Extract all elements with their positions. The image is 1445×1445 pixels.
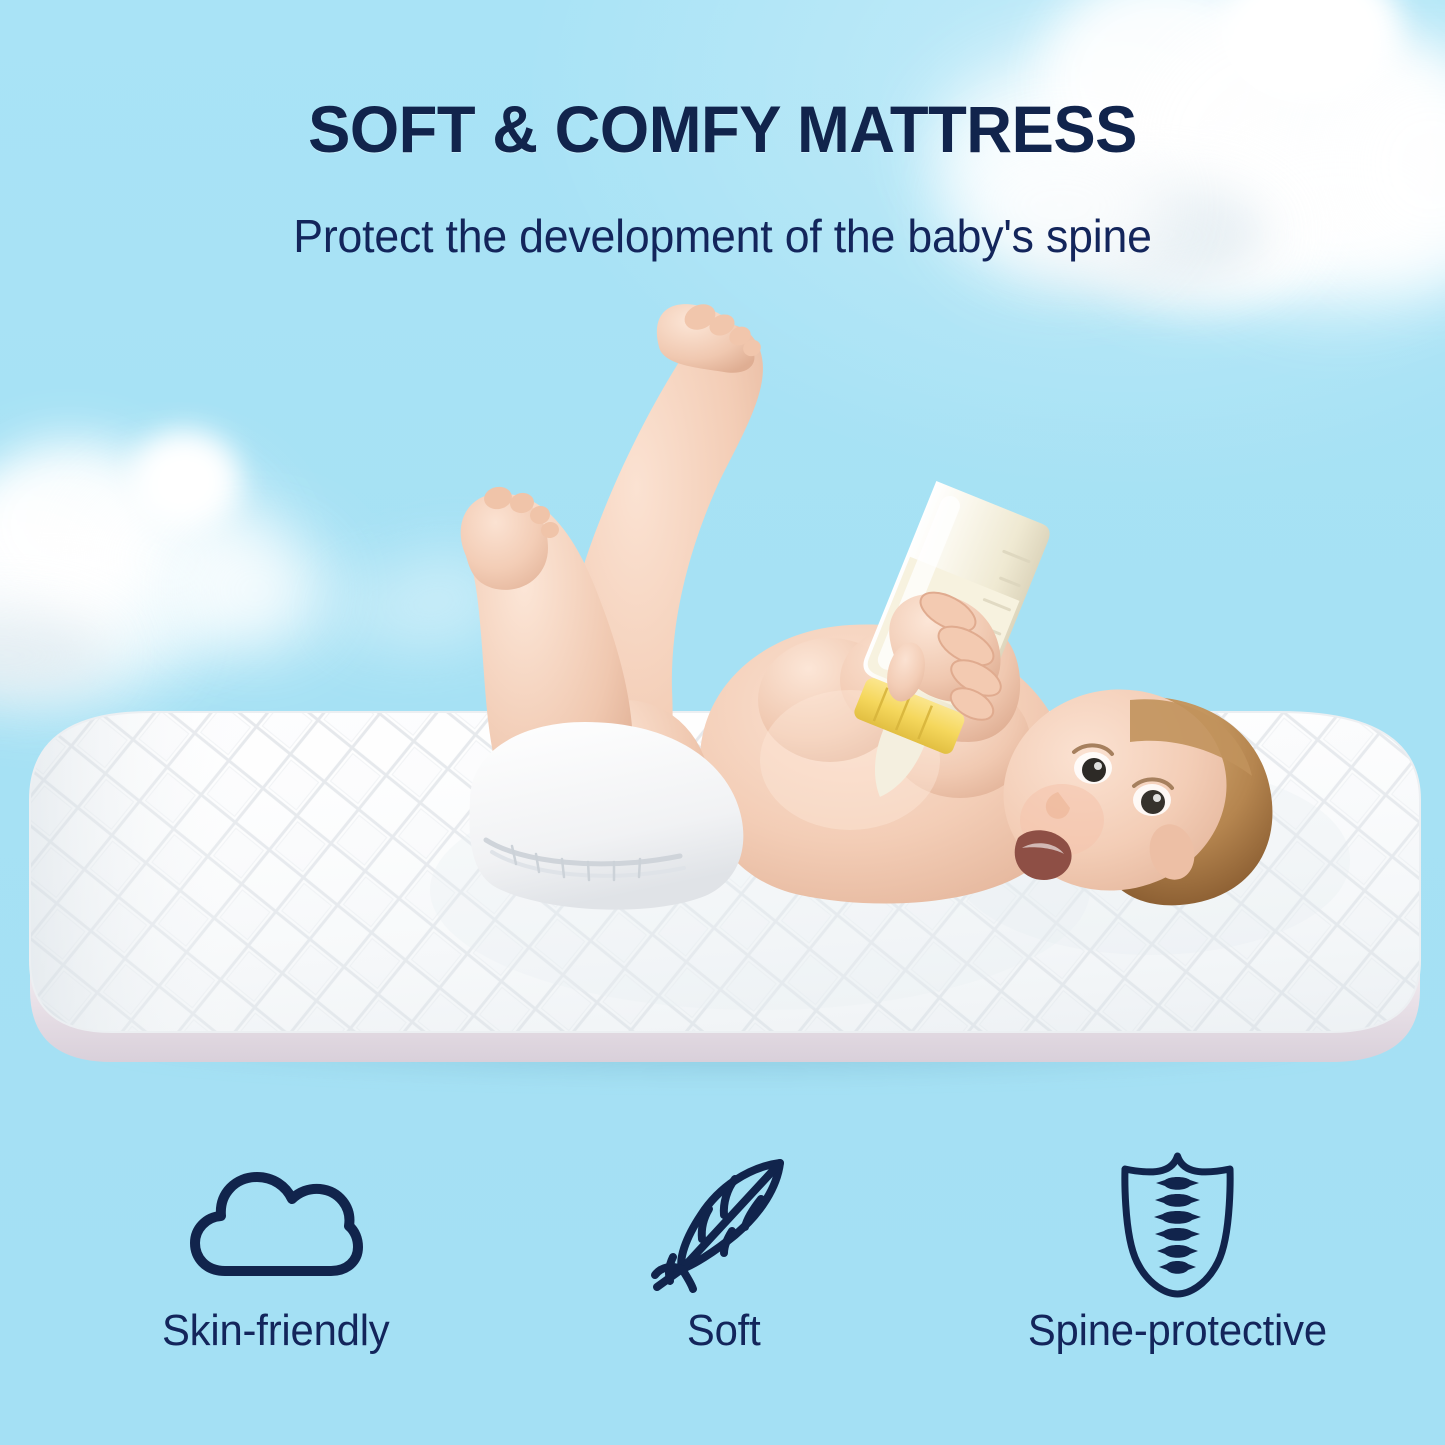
spine-shield-icon xyxy=(1115,1150,1240,1300)
feature-soft-label: Soft xyxy=(687,1306,761,1356)
cloud-icon xyxy=(189,1169,364,1281)
feature-spine-protective: Spine-protective xyxy=(1007,1150,1347,1400)
product-feature-image: SOFT & COMFY MATTRESS Protect the develo… xyxy=(0,0,1445,1445)
feather-icon-wrap xyxy=(649,1150,799,1300)
feature-spine-protective-label: Spine-protective xyxy=(1027,1306,1326,1356)
spine-shield-icon-wrap xyxy=(1115,1150,1240,1300)
cloud-icon-wrap xyxy=(189,1150,364,1300)
feature-row: Skin-friendly xyxy=(0,1150,1445,1400)
feather-icon xyxy=(649,1153,799,1298)
feature-skin-friendly-label: Skin-friendly xyxy=(162,1306,390,1356)
feature-soft: Soft xyxy=(554,1150,894,1400)
vertebrae-stack xyxy=(1154,1177,1201,1274)
feature-skin-friendly: Skin-friendly xyxy=(106,1150,446,1400)
